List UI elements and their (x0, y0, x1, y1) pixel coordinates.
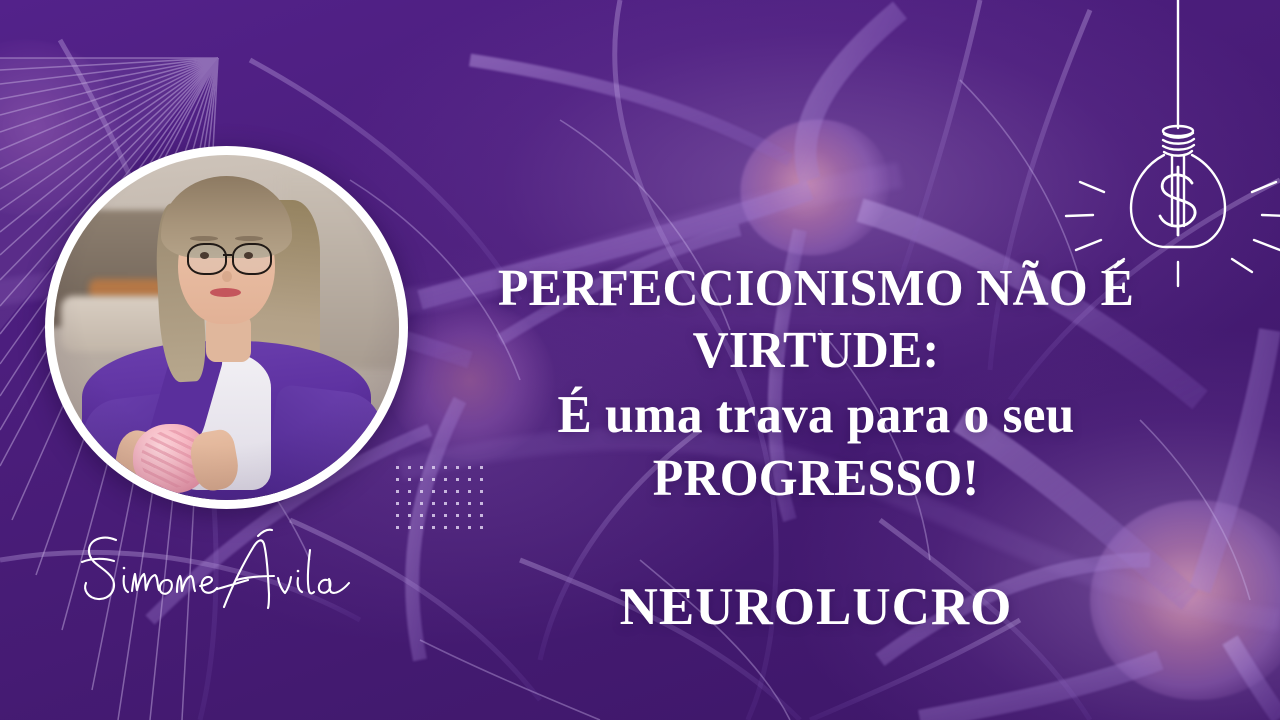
headline-line-2: VIRTUDE: (440, 320, 1193, 382)
signature (72, 528, 372, 614)
headline-line-3: É uma trava para o seu (436, 382, 1196, 448)
avatar (45, 146, 408, 509)
headline-line-4: PROGRESSO! (440, 448, 1193, 510)
headline-block: PERFECCIONISMO NÃO É VIRTUDE: É uma trav… (424, 258, 1208, 510)
slide-canvas: PERFECCIONISMO NÃO É VIRTUDE: É uma trav… (0, 0, 1280, 720)
portrait-photo (54, 155, 399, 500)
photo-vignette (54, 155, 399, 500)
signature-icon (72, 528, 372, 614)
brand-name: NEUROLUCRO (424, 578, 1208, 636)
headline-line-1: PERFECCIONISMO NÃO É (440, 258, 1193, 320)
